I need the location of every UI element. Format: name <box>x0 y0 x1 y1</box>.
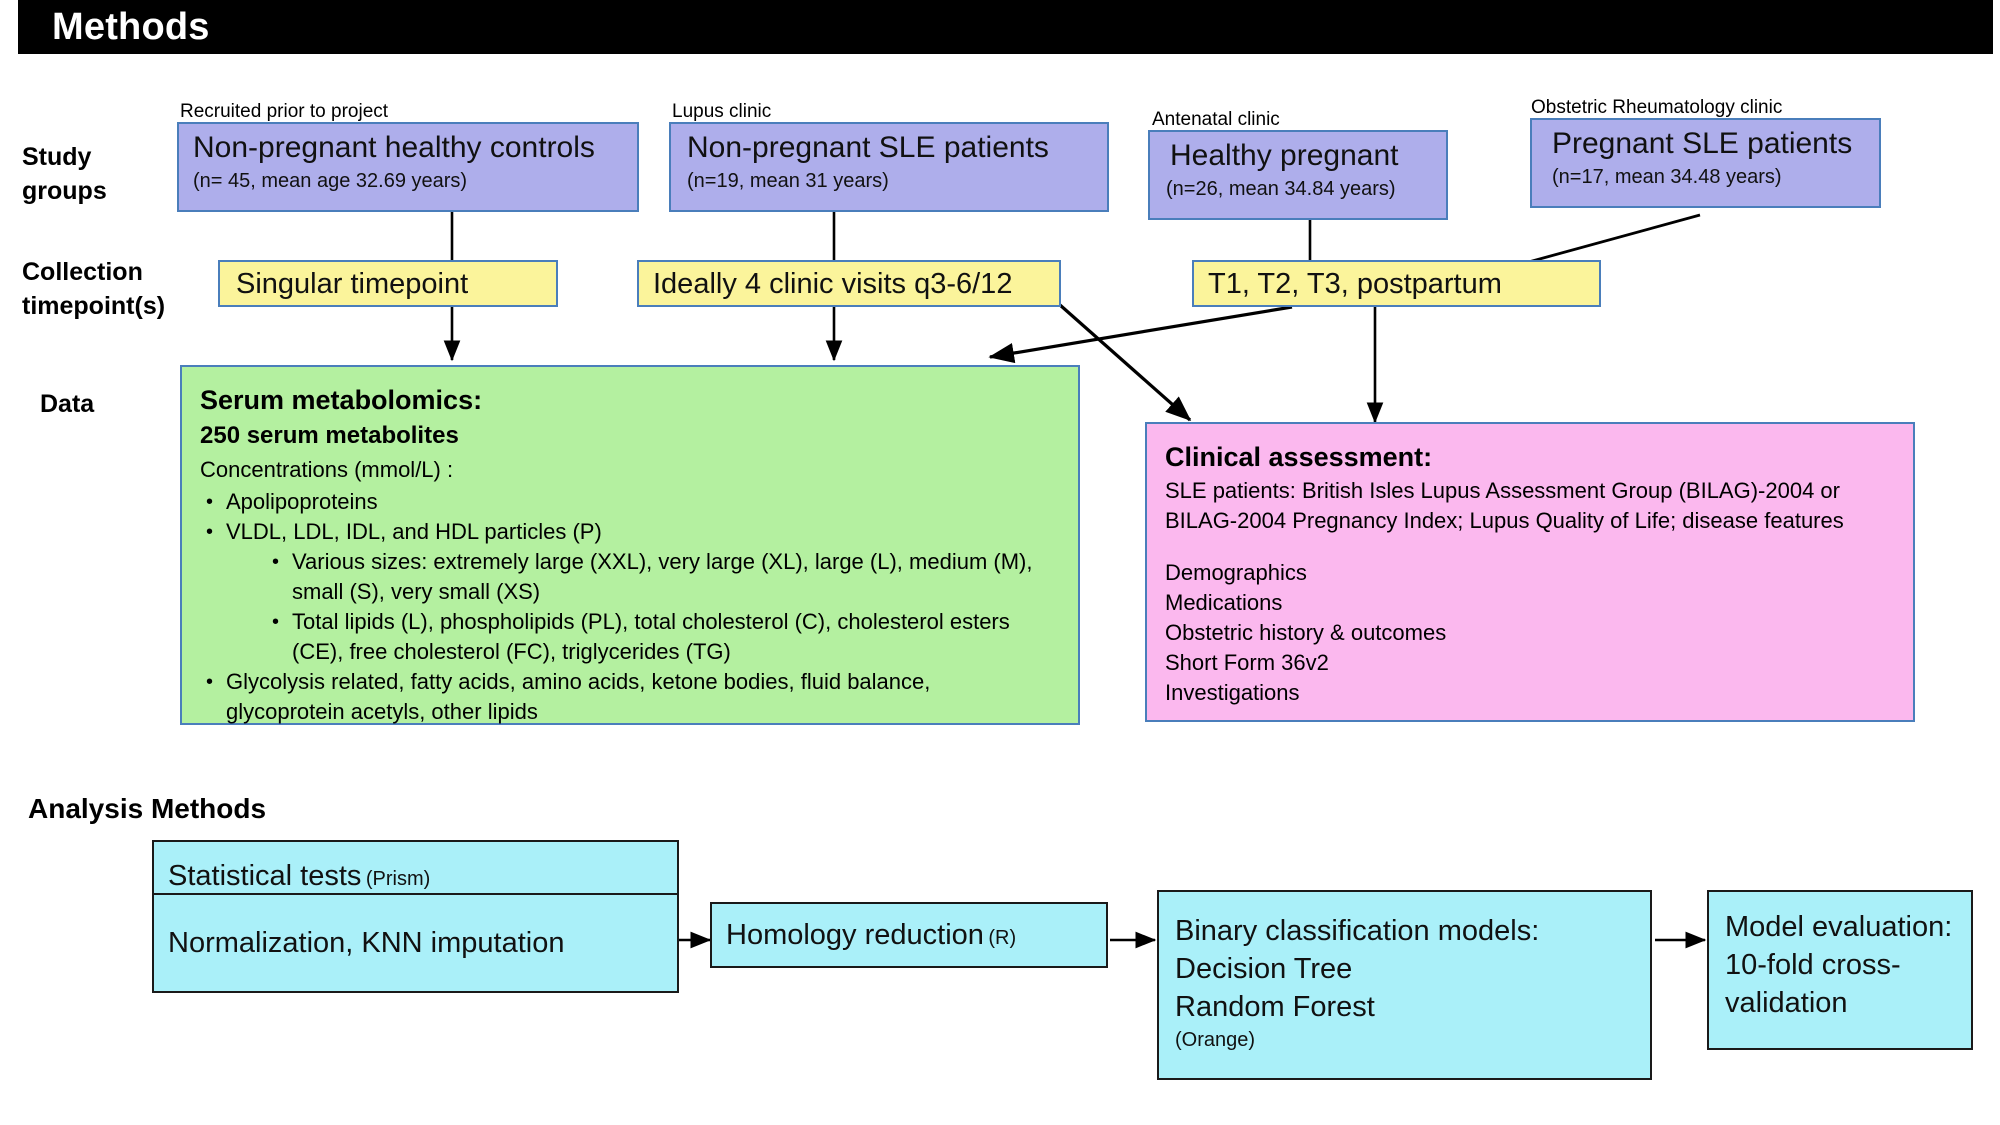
study-group-box-4: Pregnant SLE patients (n=17, mean 34.48 … <box>1530 118 1881 208</box>
serum-subheading: 250 serum metabolites <box>200 419 1060 453</box>
evaluation-line-1: Model evaluation: <box>1725 908 1971 946</box>
study-group-title-1: Non-pregnant healthy controls <box>193 130 637 166</box>
evaluation-line-3: validation <box>1725 984 1971 1022</box>
study-group-box-3: Healthy pregnant (n=26, mean 34.84 years… <box>1148 130 1448 220</box>
study-group-title-4: Pregnant SLE patients <box>1552 126 1879 162</box>
serum-bullet-list: Apolipoproteins VLDL, LDL, IDL, and HDL … <box>200 487 1060 727</box>
row-label-study-groups-line1: Study <box>22 140 107 174</box>
homology-reduction-main: Homology reduction <box>726 919 984 951</box>
row-label-study-groups: Study groups <box>22 140 107 208</box>
study-group-caption-4: Obstetric Rheumatology clinic <box>1531 96 1782 120</box>
classification-models-box: Binary classification models: Decision T… <box>1157 890 1652 1080</box>
serum-sub-bullet-1-text: Various sizes: extremely large (XXL), ve… <box>292 549 1032 604</box>
timepoint-box-2: Ideally 4 clinic visits q3-6/12 <box>637 260 1061 307</box>
serum-intro: Concentrations (mmol/L) : <box>200 455 1060 485</box>
homology-reduction-note: (R) <box>988 927 1016 949</box>
study-group-sub-2: (n=19, mean 31 years) <box>687 168 1107 194</box>
serum-sub-bullet-list: Various sizes: extremely large (XXL), ve… <box>266 547 1060 667</box>
header-bar <box>18 0 1993 54</box>
study-group-caption-1: Recruited prior to project <box>180 100 388 124</box>
row-label-study-groups-line2: groups <box>22 174 107 208</box>
clinical-line-1: SLE patients: British Isles Lupus Assess… <box>1165 476 1897 506</box>
timepoint-label-1: Singular timepoint <box>236 267 468 301</box>
normalization-label: Normalization, KNN imputation <box>168 924 564 962</box>
clinical-item-2: Medications <box>1165 588 1897 618</box>
serum-bullet-1-text: Apolipoproteins <box>226 489 378 514</box>
classification-line-2: Decision Tree <box>1175 950 1650 988</box>
serum-sub-bullet-1: Various sizes: extremely large (XXL), ve… <box>266 547 1060 607</box>
row-label-collection-line1: Collection <box>22 255 165 289</box>
study-group-caption-3: Antenatal clinic <box>1152 108 1280 132</box>
serum-sub-bullet-2-text: Total lipids (L), phospholipids (PL), to… <box>292 609 1010 664</box>
study-group-title-3: Healthy pregnant <box>1170 138 1446 174</box>
homology-reduction-box: Homology reduction (R) <box>710 902 1108 968</box>
study-group-box-2: Non-pregnant SLE patients (n=19, mean 31… <box>669 122 1109 212</box>
statistical-tests-note: (Prism) <box>366 868 430 890</box>
study-group-caption-2: Lupus clinic <box>672 100 771 124</box>
serum-heading: Serum metabolomics: <box>200 381 1060 419</box>
serum-bullet-1: Apolipoproteins <box>200 487 1060 517</box>
evaluation-line-2: 10-fold cross- <box>1725 946 1971 984</box>
study-group-sub-3: (n=26, mean 34.84 years) <box>1166 176 1446 202</box>
clinical-heading: Clinical assessment: <box>1165 438 1897 476</box>
model-evaluation-box: Model evaluation: 10-fold cross- validat… <box>1707 890 1973 1050</box>
study-group-title-2: Non-pregnant SLE patients <box>687 130 1107 166</box>
serum-bullet-2-text: VLDL, LDL, IDL, and HDL particles (P) <box>226 519 602 544</box>
serum-bullet-3: Glycolysis related, fatty acids, amino a… <box>200 667 1060 727</box>
clinical-item-3: Obstetric history & outcomes <box>1165 618 1897 648</box>
row-label-data: Data <box>40 387 94 421</box>
normalization-box: Normalization, KNN imputation <box>152 893 679 993</box>
serum-metabolomics-box: Serum metabolomics: 250 serum metabolite… <box>180 365 1080 725</box>
timepoint-label-2: Ideally 4 clinic visits q3-6/12 <box>653 267 1012 301</box>
statistical-tests-label: Statistical tests (Prism) <box>168 857 430 895</box>
clinical-spacer <box>1165 536 1897 558</box>
study-group-sub-1: (n= 45, mean age 32.69 years) <box>193 168 637 194</box>
row-label-collection-line2: timepoint(s) <box>22 289 165 323</box>
study-group-sub-4: (n=17, mean 34.48 years) <box>1552 164 1879 190</box>
serum-sub-bullet-2: Total lipids (L), phospholipids (PL), to… <box>266 607 1060 667</box>
page-title: Methods <box>52 3 210 51</box>
clinical-item-5: Investigations <box>1165 678 1897 708</box>
homology-reduction-label: Homology reduction (R) <box>726 916 1016 954</box>
clinical-item-4: Short Form 36v2 <box>1165 648 1897 678</box>
serum-bullet-2: VLDL, LDL, IDL, and HDL particles (P) Va… <box>200 517 1060 667</box>
analysis-methods-title: Analysis Methods <box>28 793 266 825</box>
study-group-box-1: Non-pregnant healthy controls (n= 45, me… <box>177 122 639 212</box>
classification-note: (Orange) <box>1175 1026 1650 1054</box>
clinical-line-2: BILAG-2004 Pregnancy Index; Lupus Qualit… <box>1165 506 1897 536</box>
timepoint-box-1: Singular timepoint <box>218 260 558 307</box>
classification-line-3: Random Forest <box>1175 988 1650 1026</box>
classification-line-1: Binary classification models: <box>1175 912 1650 950</box>
timepoint-label-3: T1, T2, T3, postpartum <box>1208 267 1502 301</box>
timepoint-box-3: T1, T2, T3, postpartum <box>1192 260 1601 307</box>
statistical-tests-main: Statistical tests <box>168 860 361 892</box>
row-label-collection-timepoints: Collection timepoint(s) <box>22 255 165 323</box>
serum-bullet-3-text: Glycolysis related, fatty acids, amino a… <box>226 669 930 724</box>
clinical-item-1: Demographics <box>1165 558 1897 588</box>
clinical-assessment-box: Clinical assessment: SLE patients: Briti… <box>1145 422 1915 722</box>
methods-figure: Methods Study groups C <box>0 0 2000 1125</box>
